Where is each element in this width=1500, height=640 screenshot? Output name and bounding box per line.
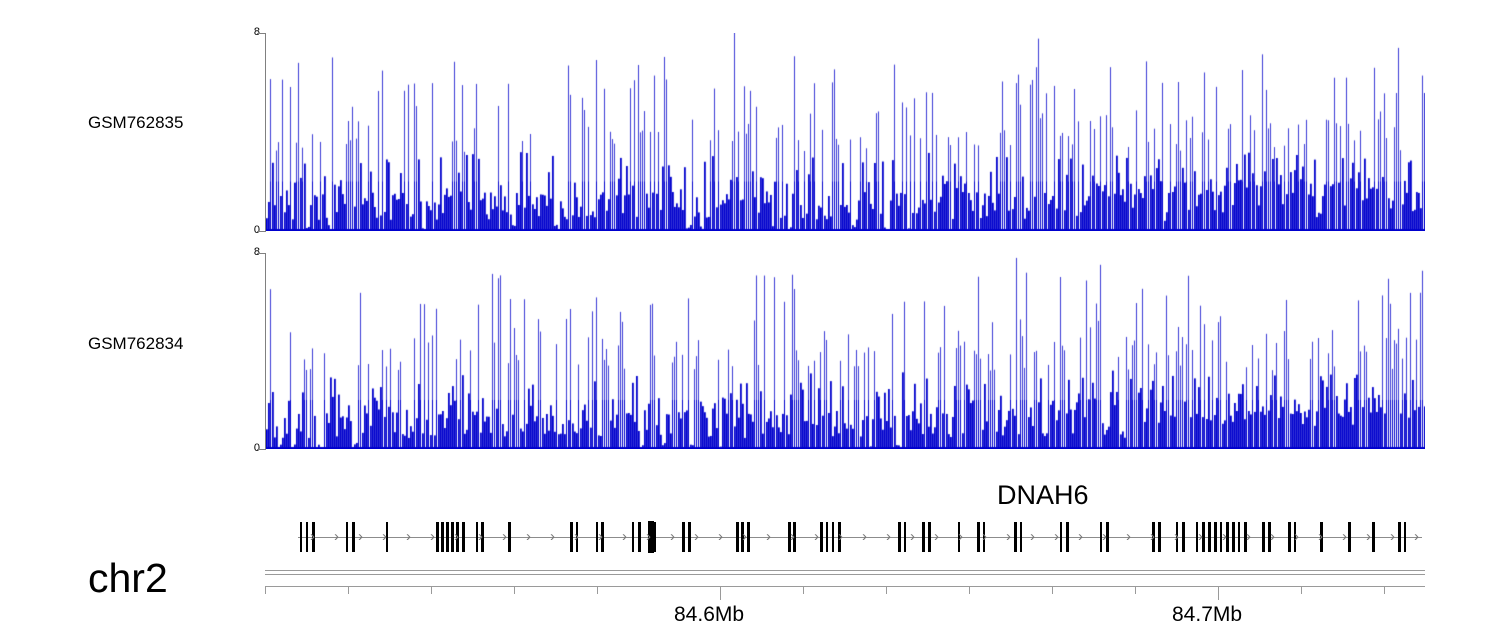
gene-exon (922, 522, 925, 552)
gene-exon (462, 522, 465, 552)
gene-exon (1020, 522, 1022, 552)
strand-arrow-icon: › (862, 531, 867, 543)
strand-arrow-icon: › (622, 531, 627, 543)
strand-arrow-icon: › (502, 531, 507, 543)
gene-exon (747, 522, 750, 552)
ruler-minor-tick (1135, 586, 1136, 594)
strand-arrow-icon: › (1126, 531, 1131, 543)
gene-exon (570, 522, 573, 552)
strand-arrow-icon: › (310, 531, 315, 543)
gene-exon (446, 522, 449, 552)
strand-arrow-icon: › (1246, 531, 1251, 543)
strand-arrow-icon: › (334, 531, 339, 543)
gene-exon (632, 522, 634, 552)
ruler-minor-tick (1384, 586, 1385, 594)
strand-arrow-icon: › (742, 531, 747, 543)
strand-arrow-icon: › (790, 531, 795, 543)
ruler-tick-label: 84.7Mb (1172, 603, 1242, 627)
gene-exon (1232, 522, 1235, 552)
ruler-upper-line (265, 570, 1425, 571)
strand-arrow-icon: › (838, 531, 843, 543)
gene-exon (1158, 522, 1161, 552)
strand-arrow-icon: › (1390, 531, 1395, 543)
strand-arrow-icon: › (1414, 531, 1419, 543)
gene-exon (441, 522, 444, 552)
strand-arrow-icon: › (1342, 531, 1347, 543)
gene-exon (638, 522, 641, 552)
strand-arrow-icon: › (718, 531, 723, 543)
gene-exon (1288, 522, 1291, 552)
gene-exon (306, 522, 308, 552)
strand-arrow-icon: › (1366, 531, 1371, 543)
ruler-minor-tick (514, 586, 515, 594)
gene-exon (688, 522, 691, 552)
track-label-0: GSM762835 (88, 113, 183, 133)
strand-arrow-icon: › (1150, 531, 1155, 543)
gene-exon (1372, 522, 1375, 552)
gene-exon (654, 522, 656, 552)
track-1-plot (266, 253, 1425, 449)
chromosome-label: chr2 (88, 555, 168, 602)
gene-exon (508, 522, 511, 552)
strand-arrow-icon: › (1006, 531, 1011, 543)
gene-exon (346, 522, 348, 552)
gene-exon (1214, 522, 1217, 552)
track-label-1: GSM762834 (88, 334, 183, 354)
strand-arrow-icon: › (1198, 531, 1203, 543)
gene-exon (352, 522, 355, 552)
strand-arrow-icon: › (982, 531, 987, 543)
gene-exon (1182, 522, 1185, 552)
gene-exon (1398, 522, 1401, 552)
gene-exon (1404, 522, 1406, 552)
strand-arrow-icon: › (1102, 531, 1107, 543)
strand-arrow-icon: › (1174, 531, 1179, 543)
strand-arrow-icon: › (454, 531, 459, 543)
strand-arrow-icon: › (958, 531, 963, 543)
ruler-tick-label: 84.6Mb (674, 603, 744, 627)
ruler-minor-tick (348, 586, 349, 594)
gene-exon (977, 522, 980, 552)
ruler-minor-tick (597, 586, 598, 594)
ruler-minor-tick (1052, 586, 1053, 594)
strand-arrow-icon: › (406, 531, 411, 543)
gene-backbone-line (298, 537, 1422, 538)
strand-arrow-icon: › (646, 531, 651, 543)
strand-arrow-icon: › (886, 531, 891, 543)
ruler-upper-line-2 (265, 574, 1425, 575)
strand-arrow-icon: › (1318, 531, 1323, 543)
strand-arrow-icon: › (574, 531, 579, 543)
strand-arrow-icon: › (1054, 531, 1059, 543)
strand-arrow-icon: › (766, 531, 771, 543)
gene-name-label[interactable]: DNAH6 (997, 480, 1089, 511)
gene-exon (682, 522, 685, 552)
strand-arrow-icon: › (478, 531, 483, 543)
strand-arrow-icon: › (814, 531, 819, 543)
track-0-plot (266, 33, 1425, 231)
strand-arrow-icon: › (358, 531, 363, 543)
strand-arrow-icon: › (1222, 531, 1227, 543)
ruler-axis-line (265, 586, 1425, 587)
gene-exon (1238, 522, 1240, 552)
gene-exon (736, 522, 739, 552)
gene-exon (928, 522, 931, 552)
gene-exon (1208, 522, 1211, 552)
gene-exon (832, 522, 834, 552)
ruler-minor-tick (803, 586, 804, 594)
gene-exon (1348, 522, 1351, 552)
ruler-minor-tick (265, 586, 266, 594)
strand-arrow-icon: › (550, 531, 555, 543)
ruler-major-tick (720, 586, 721, 600)
ruler-minor-tick (1301, 586, 1302, 594)
gene-exon (820, 522, 823, 552)
gene-exon (826, 522, 828, 552)
ruler-major-tick (1218, 586, 1219, 600)
gene-exon (1060, 522, 1062, 552)
genome-browser-view: GSM762835 8 0 GSM762834 8 0 DNAH6 ››››››… (0, 0, 1500, 640)
ruler-minor-tick (969, 586, 970, 594)
gene-exon (1014, 522, 1017, 552)
strand-arrow-icon: › (430, 531, 435, 543)
strand-arrow-icon: › (1078, 531, 1083, 543)
ruler-minor-tick (886, 586, 887, 594)
gene-exon (300, 522, 302, 552)
gene-exon (898, 522, 901, 552)
strand-arrow-icon: › (598, 531, 603, 543)
ruler-minor-tick (431, 586, 432, 594)
strand-arrow-icon: › (670, 531, 675, 543)
strand-arrow-icon: › (1270, 531, 1275, 543)
gene-exon (1066, 522, 1069, 552)
gene-exon (904, 522, 906, 552)
strand-arrow-icon: › (910, 531, 915, 543)
gene-exon (1262, 522, 1265, 552)
strand-arrow-icon: › (934, 531, 939, 543)
strand-arrow-icon: › (1030, 531, 1035, 543)
gene-exon (436, 522, 439, 552)
strand-arrow-icon: › (1294, 531, 1299, 543)
strand-arrow-icon: › (694, 531, 699, 543)
strand-arrow-icon: › (526, 531, 531, 543)
strand-arrow-icon: › (382, 531, 387, 543)
